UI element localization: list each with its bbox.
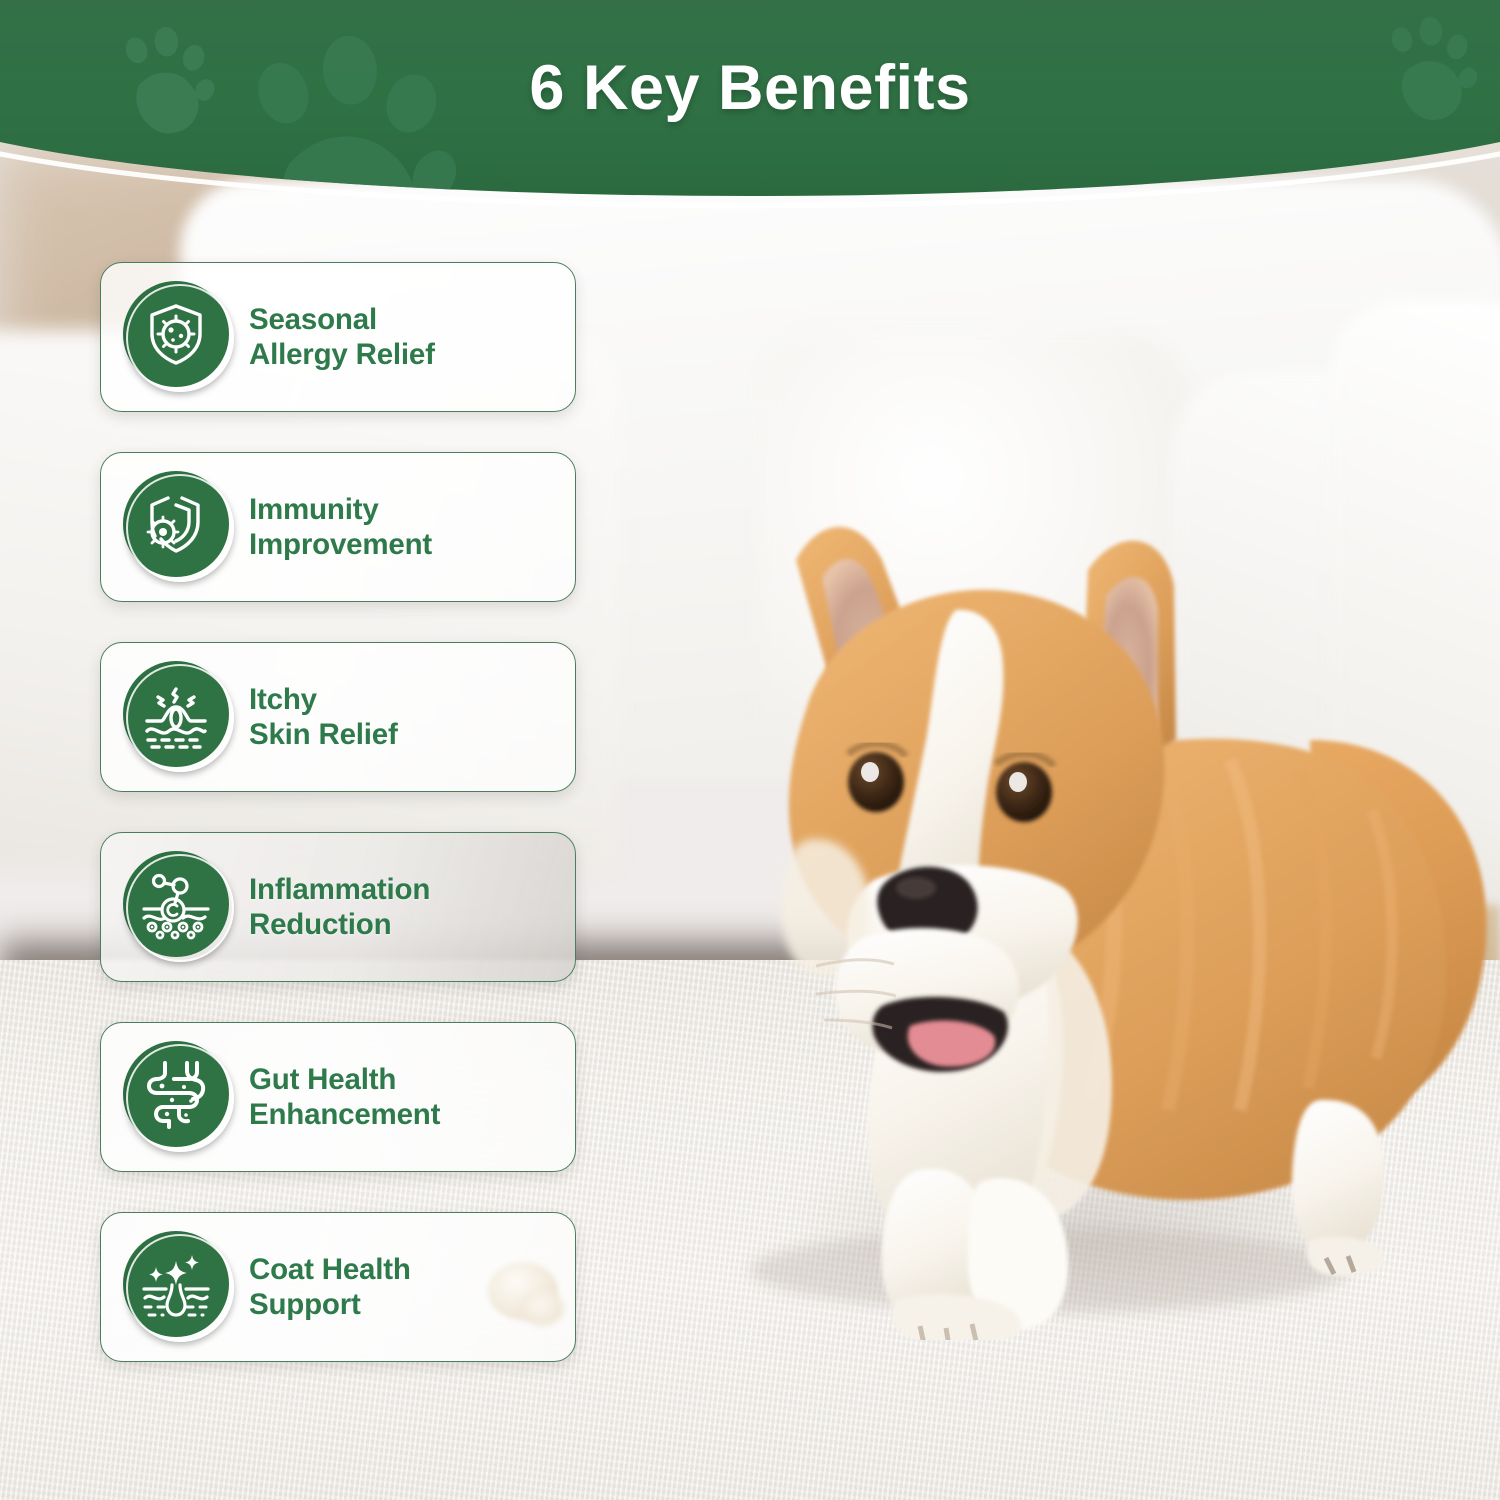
benefit-label: Coat Health Support — [249, 1252, 411, 1323]
benefit-label: Itchy Skin Relief — [249, 682, 398, 753]
benefit-label-line2: Improvement — [249, 527, 432, 562]
benefit-label: Inflammation Reduction — [249, 872, 430, 943]
icon-container — [123, 1231, 235, 1343]
benefit-label: Gut Health Enhancement — [249, 1062, 440, 1133]
icon-container — [123, 661, 235, 773]
corgi-dog-photo — [620, 410, 1500, 1340]
benefits-list: Seasonal Allergy Relief — [100, 262, 580, 1402]
benefit-label-line2: Support — [249, 1287, 411, 1322]
icon-ring — [126, 854, 234, 962]
benefit-label-line1: Seasonal — [249, 302, 435, 337]
benefits-infographic: 6 Key Benefits — [0, 0, 1500, 1500]
carpet-fluff-small — [520, 1290, 564, 1326]
icon-ring — [126, 474, 234, 582]
benefit-label-line2: Allergy Relief — [249, 337, 435, 372]
benefit-label: Immunity Improvement — [249, 492, 432, 563]
benefit-label-line1: Immunity — [249, 492, 432, 527]
benefit-card-seasonal-allergy-relief[interactable]: Seasonal Allergy Relief — [100, 262, 576, 412]
benefit-card-gut-health-enhancement[interactable]: Gut Health Enhancement — [100, 1022, 576, 1172]
icon-ring — [126, 1044, 234, 1152]
benefit-label-line1: Itchy — [249, 682, 398, 717]
benefit-label: Seasonal Allergy Relief — [249, 302, 435, 373]
benefit-card-itchy-skin-relief[interactable]: Itchy Skin Relief — [100, 642, 576, 792]
icon-container — [123, 1041, 235, 1153]
benefit-card-immunity-improvement[interactable]: Immunity Improvement — [100, 452, 576, 602]
benefit-label-line2: Enhancement — [249, 1097, 440, 1132]
benefit-label-line2: Reduction — [249, 907, 430, 942]
icon-ring — [126, 664, 234, 772]
icon-ring — [126, 1234, 234, 1342]
benefit-label-line1: Gut Health — [249, 1062, 440, 1097]
icon-container — [123, 281, 235, 393]
icon-container — [123, 471, 235, 583]
page-title: 6 Key Benefits — [0, 52, 1500, 124]
benefit-label-line1: Inflammation — [249, 872, 430, 907]
benefit-label-line2: Skin Relief — [249, 717, 398, 752]
icon-container — [123, 851, 235, 963]
benefit-label-line1: Coat Health — [249, 1252, 411, 1287]
benefit-card-inflammation-reduction[interactable]: Inflammation Reduction — [100, 832, 576, 982]
icon-ring — [126, 284, 234, 392]
